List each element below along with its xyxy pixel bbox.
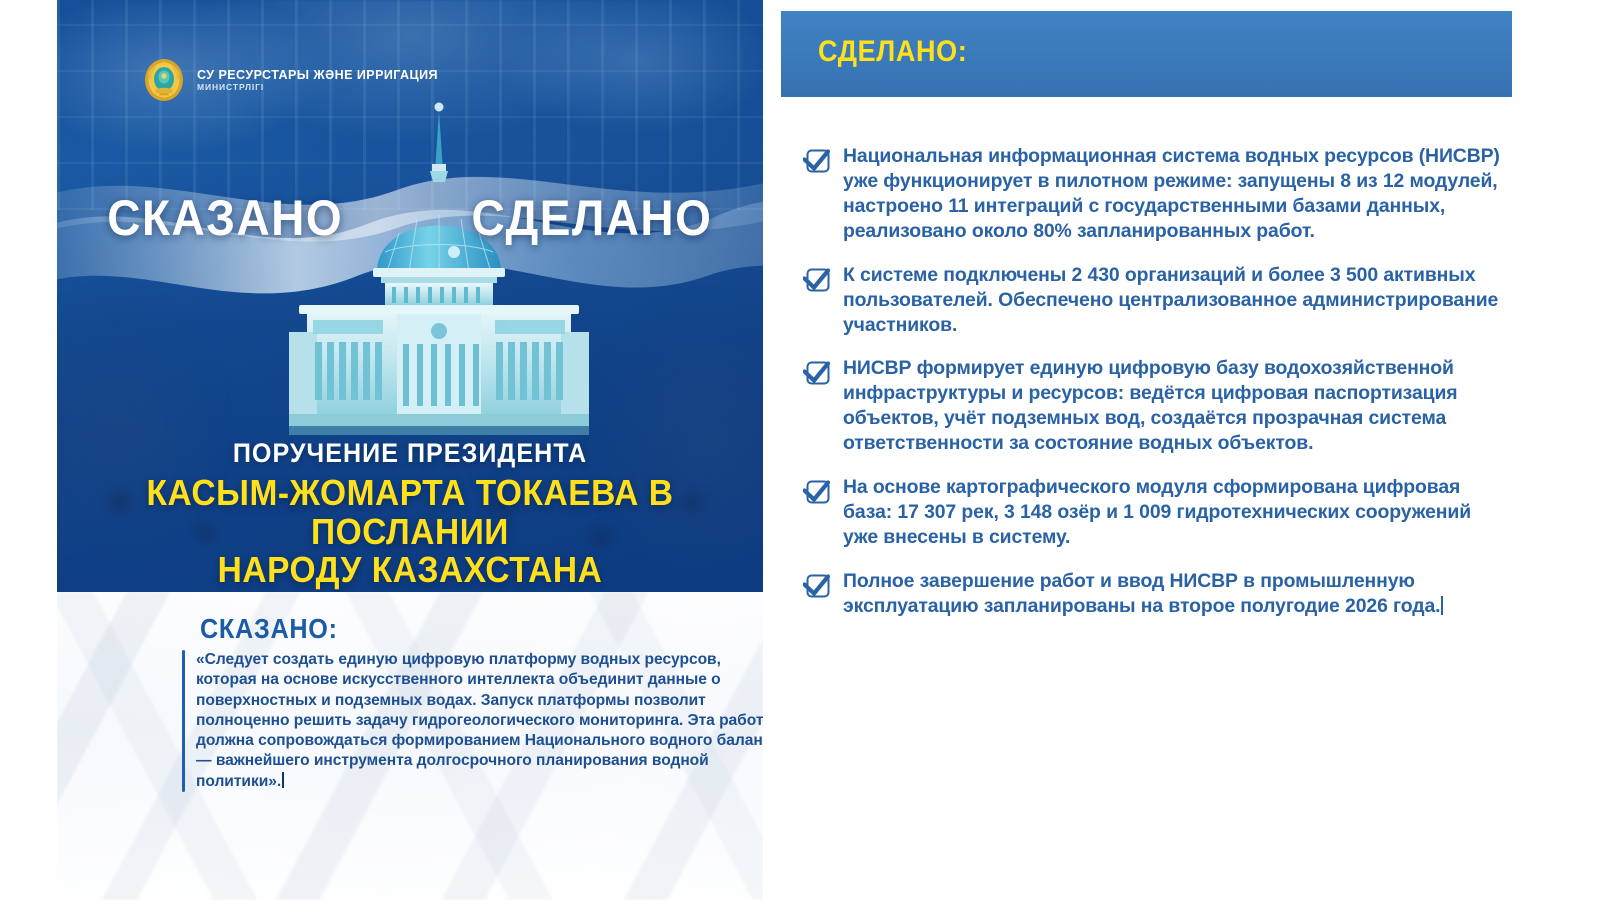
list-item: Полное завершение работ и ввод НИСВР в п… <box>803 569 1503 619</box>
checkbox-checked-icon <box>803 478 830 505</box>
list-item-text: Полное завершение работ и ввод НИСВР в п… <box>843 569 1503 619</box>
quote-accent-bar <box>182 650 185 792</box>
done-items-list: Национальная информационная система водн… <box>803 144 1503 638</box>
said-section-heading: СКАЗАНО: <box>200 613 338 645</box>
done-banner: СДЕЛАНО: <box>781 11 1512 97</box>
said-quote-text: «Следует создать единую цифровую платфор… <box>196 650 763 792</box>
list-item-value: Полное завершение работ и ввод НИСВР в п… <box>843 570 1440 617</box>
list-item: На основе картографического модуля сформ… <box>803 475 1503 550</box>
list-item: Национальная информационная система водн… <box>803 144 1503 244</box>
title-block: ПОРУЧЕНИЕ ПРЕЗИДЕНТА КАСЫМ-ЖОМАРТА ТОКАЕ… <box>97 438 723 590</box>
list-item-text: НИСВР формирует единую цифровую базу вод… <box>843 356 1503 456</box>
list-item: К системе подключены 2 430 организаций и… <box>803 263 1503 338</box>
title-pre: ПОРУЧЕНИЕ ПРЕЗИДЕНТА <box>119 438 701 468</box>
ministry-name-line2: МИНИСТРЛІГІ <box>197 83 438 92</box>
infographic-page: СУ РЕСУРСТАРЫ ЖӘНЕ ИРРИГАЦИЯ МИНИСТРЛІГІ <box>0 0 1600 900</box>
done-panel: СДЕЛАНО: Национальная информационная сис… <box>781 0 1600 900</box>
poster-upper-blue-area: СУ РЕСУРСТАРЫ ЖӘНЕ ИРРИГАЦИЯ МИНИСТРЛІГІ <box>57 0 763 592</box>
checkbox-checked-icon <box>803 572 830 599</box>
said-quote-value: «Следует создать единую цифровую платфор… <box>196 651 763 790</box>
list-item: НИСВР формирует единую цифровую базу вод… <box>803 356 1503 456</box>
title-main-line2: НАРОДУ КАЗАХСТАНА <box>119 551 701 590</box>
text-cursor-last-item <box>1441 596 1443 615</box>
checkbox-checked-icon <box>803 359 830 386</box>
text-cursor-quote <box>282 772 284 787</box>
left-poster: СУ РЕСУРСТАРЫ ЖӘНЕ ИРРИГАЦИЯ МИНИСТРЛІГІ <box>57 0 763 900</box>
akorda-palace-icon <box>289 92 589 442</box>
said-quote-block: «Следует создать единую цифровую платфор… <box>182 650 763 792</box>
ministry-name-line1: СУ РЕСУРСТАРЫ ЖӘНЕ ИРРИГАЦИЯ <box>197 69 438 82</box>
checkbox-checked-icon <box>803 147 830 174</box>
title-main-line1: КАСЫМ-ЖОМАРТА ТОКАЕВА В ПОСЛАНИИ <box>119 474 701 551</box>
checkbox-checked-icon <box>803 266 830 293</box>
ministry-logo-text: СУ РЕСУРСТАРЫ ЖӘНЕ ИРРИГАЦИЯ МИНИСТРЛІГІ <box>197 69 438 92</box>
list-item-text: На основе картографического модуля сформ… <box>843 475 1503 550</box>
done-banner-heading: СДЕЛАНО: <box>818 35 967 69</box>
list-item-text: К системе подключены 2 430 организаций и… <box>843 263 1503 338</box>
list-item-text: Национальная информационная система водн… <box>843 144 1503 244</box>
kazakhstan-emblem-icon <box>143 57 185 103</box>
